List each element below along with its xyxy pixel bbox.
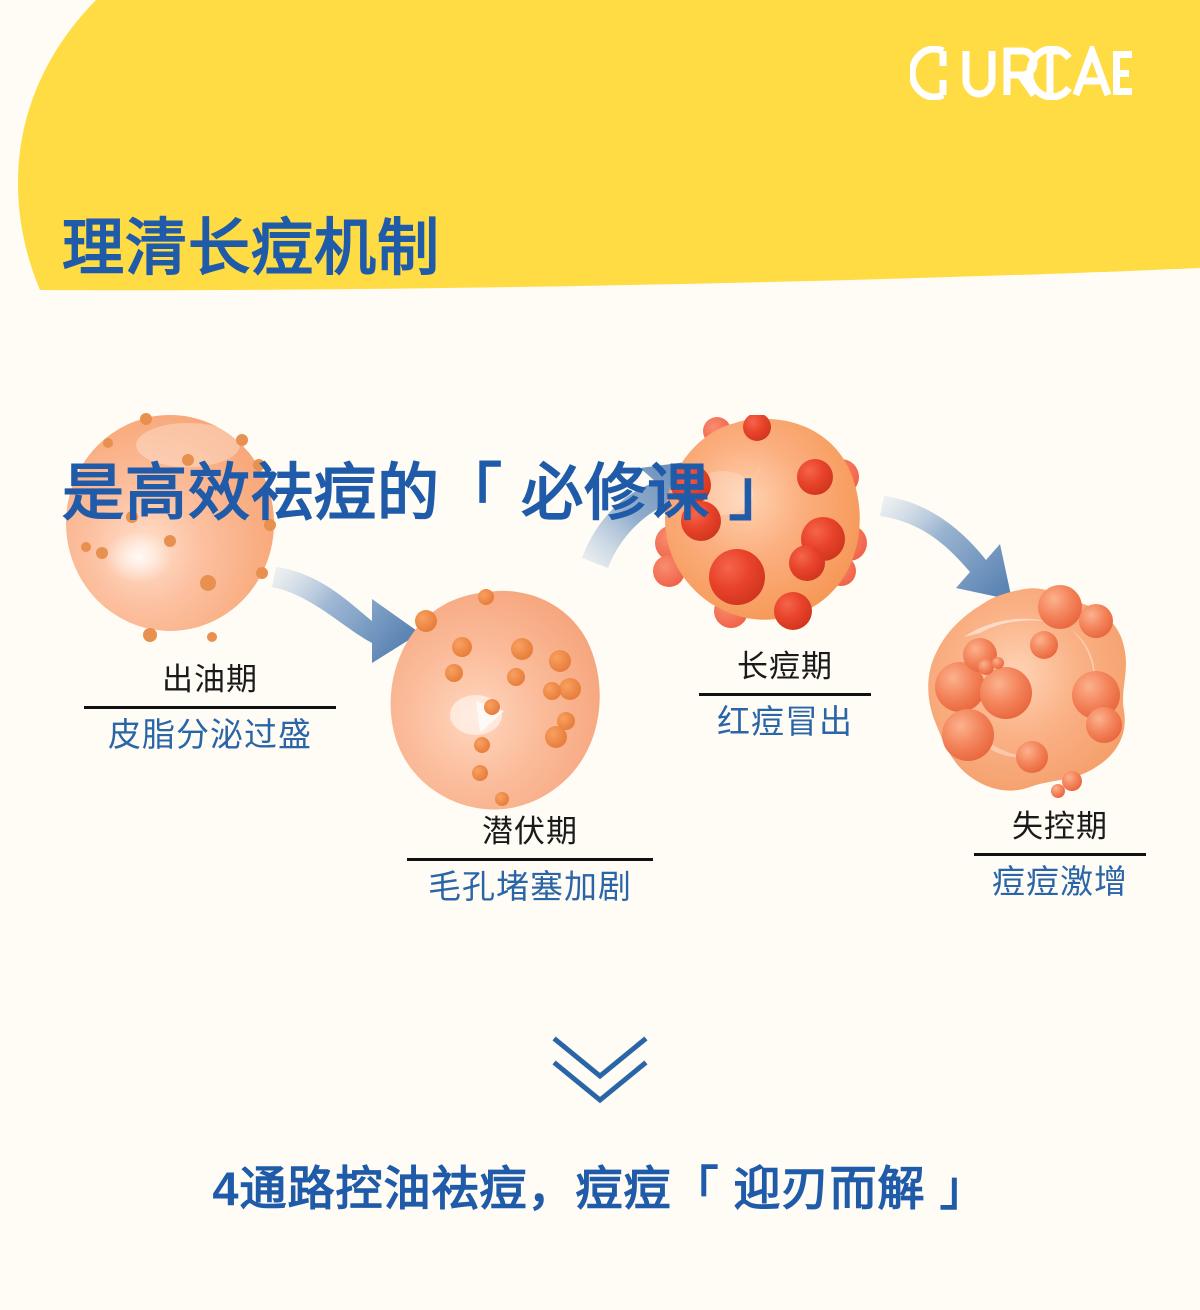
stage-1-divider (84, 706, 336, 709)
header-banner: 理清长痘机制 是高效祛痘的「 必修课 」 (0, 0, 1200, 300)
ourcare-wordmark-icon (910, 46, 1132, 100)
stage-2-name: 潜伏期 (380, 815, 680, 849)
stage-4-description: 痘痘激增 (920, 863, 1200, 901)
stage-4-caption: 失控期 痘痘激增 (920, 810, 1200, 901)
brand-logo (910, 46, 1132, 100)
infographic-page: 理清长痘机制 是高效祛痘的「 必修课 」 (0, 0, 1200, 1310)
page-title: 理清长痘机制 是高效祛痘的「 必修课 」 (62, 44, 791, 699)
stage-4-out-of-control-phase: 失控期 痘痘激增 (920, 585, 1200, 975)
stage-2-description: 毛孔堵塞加剧 (380, 868, 680, 906)
stage-4-cell-illustration (920, 585, 1135, 800)
stage-4-divider (974, 853, 1146, 856)
page-title-line-2: 是高效祛痘的「 必修课 」 (62, 453, 791, 535)
stage-2-divider (407, 858, 653, 861)
stage-3-description: 红痘冒出 (645, 703, 925, 741)
stage-4-name: 失控期 (920, 810, 1200, 844)
double-chevron-down (548, 1032, 652, 1115)
double-chevron-down-icon (548, 1032, 652, 1110)
page-title-line-1: 理清长痘机制 (62, 208, 791, 290)
stage-1-description: 皮脂分泌过盛 (60, 716, 360, 754)
stage-2-caption: 潜伏期 毛孔堵塞加剧 (380, 815, 680, 906)
footer-tagline: 4通路控油祛痘，痘痘「 迎刃而解 」 (0, 1150, 1200, 1219)
